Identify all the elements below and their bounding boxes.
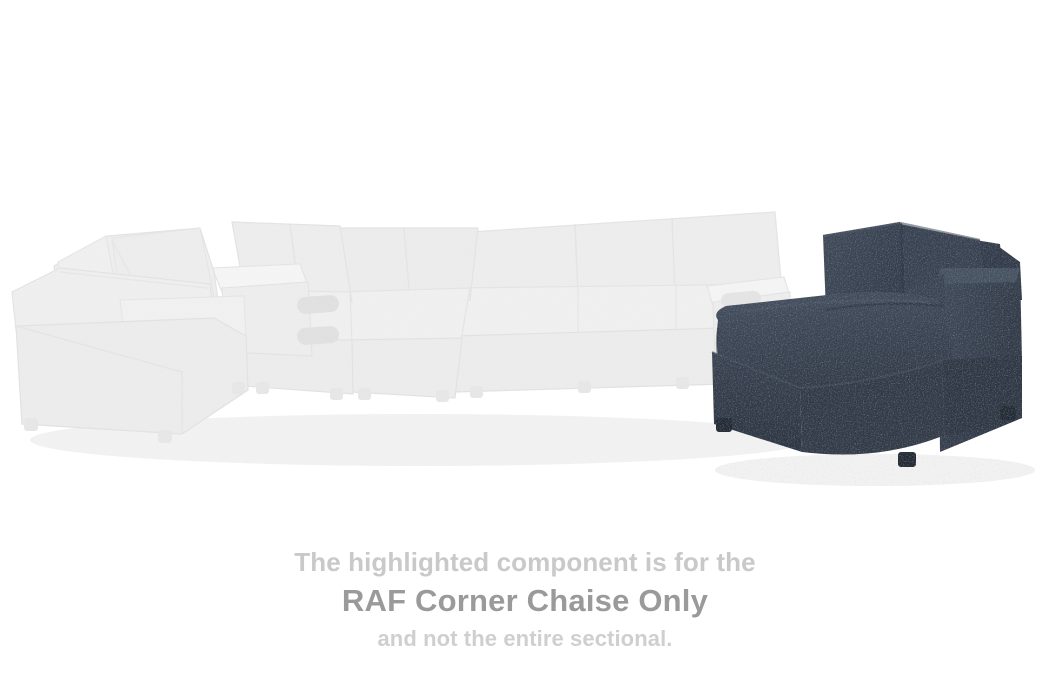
ghost-right-run-foot-1 — [470, 386, 483, 398]
chaise-right-arm-top — [938, 268, 1020, 284]
caption-component-name: RAF Corner Chaise Only — [0, 579, 1050, 623]
ghost-right-run-foot-2 — [578, 381, 591, 393]
caption-block: The highlighted component is for the RAF… — [0, 545, 1050, 655]
product-image-canvas: The highlighted component is for the RAF… — [0, 0, 1050, 700]
ghost-right-run-foot-3 — [676, 377, 689, 389]
caption-line-1: The highlighted component is for the — [0, 545, 1050, 579]
ghost-left-cupholder-1 — [296, 295, 339, 315]
ghost-loveseat-foot-2 — [158, 430, 172, 443]
ghosted-sectional — [12, 212, 810, 466]
ghost-left-run-foot-2 — [330, 388, 343, 400]
chaise-foot-front-right — [898, 452, 916, 467]
ghost-loveseat-foot-1 — [24, 418, 38, 431]
caption-line-3: and not the entire sectional. — [0, 623, 1050, 655]
chaise-foot-front-left — [716, 418, 732, 432]
chaise-foot-back-right — [1000, 406, 1016, 420]
ghost-left-cupholder-2 — [296, 326, 339, 346]
ghost-left-run-foot-1 — [256, 382, 269, 394]
chaise-floor-shadow — [715, 454, 1035, 486]
ghost-corner-wedge-foot-2 — [436, 390, 449, 402]
chaise-base-right-extension — [944, 356, 1022, 436]
ghost-corner-wedge-foot-1 — [358, 388, 371, 400]
product-illustration — [0, 0, 1050, 520]
ghost-loveseat-foot-3 — [232, 382, 245, 394]
